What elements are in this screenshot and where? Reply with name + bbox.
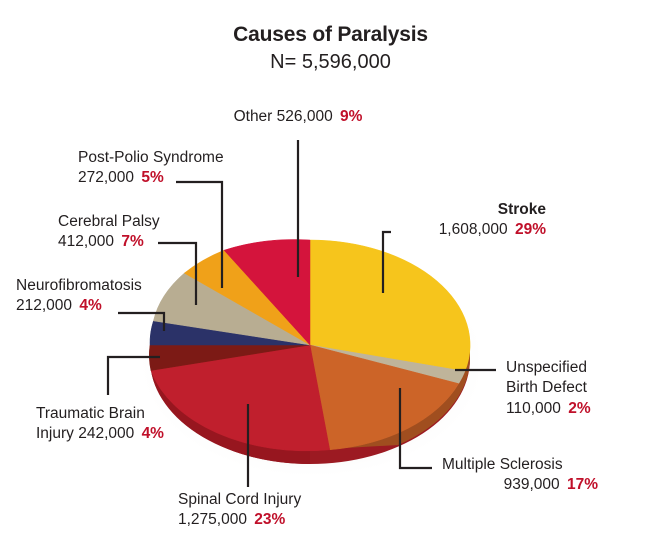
label-spinal-cord-injury: Spinal Cord Injury 1,275,000 23%: [178, 490, 301, 531]
label-neurofibromatosis-value: 212,000: [16, 297, 72, 314]
label-neurofibromatosis: Neurofibromatosis 212,000 4%: [16, 276, 142, 317]
label-traumatic-brain-percent: 4%: [142, 425, 164, 442]
label-multiple-sclerosis: Multiple Sclerosis 939,000 17%: [398, 455, 598, 496]
label-traumatic-brain-line1: Traumatic Brain: [36, 405, 145, 422]
label-stroke: Stroke 1,608,000 29%: [398, 200, 546, 241]
label-multiple-sclerosis-name: Multiple Sclerosis: [442, 456, 563, 473]
label-stroke-percent: 29%: [515, 221, 546, 238]
label-neurofibromatosis-percent: 4%: [79, 297, 101, 314]
label-spinal-cord-name: Spinal Cord Injury: [178, 491, 301, 508]
pie-slices: [149, 239, 470, 450]
label-cerebral-palsy: Cerebral Palsy 412,000 7%: [58, 212, 160, 253]
label-post-polio-percent: 5%: [141, 169, 163, 186]
label-post-polio-syndrome: Post-Polio Syndrome 272,000 5%: [78, 148, 224, 189]
label-traumatic-brain-injury: Traumatic Brain Injury 242,000 4%: [36, 404, 164, 445]
label-multiple-sclerosis-value: 939,000: [504, 476, 560, 493]
label-other-percent: 9%: [340, 108, 362, 125]
label-multiple-sclerosis-percent: 17%: [567, 476, 598, 493]
label-cerebral-palsy-name: Cerebral Palsy: [58, 213, 160, 230]
label-unspecified-birth-defect: Unspecified Birth Defect 110,000 2%: [506, 358, 591, 419]
label-spinal-cord-value: 1,275,000: [178, 511, 247, 528]
label-traumatic-brain-line2: Injury 242,000: [36, 425, 134, 442]
label-spinal-cord-percent: 23%: [254, 511, 285, 528]
label-stroke-name: Stroke: [498, 201, 546, 218]
label-neurofibromatosis-name: Neurofibromatosis: [16, 277, 142, 294]
label-birth-defect-line2: Birth Defect: [506, 379, 587, 396]
label-other-value: 526,000: [277, 108, 333, 125]
label-post-polio-value: 272,000: [78, 169, 134, 186]
label-cerebral-palsy-percent: 7%: [121, 233, 143, 250]
label-post-polio-name: Post-Polio Syndrome: [78, 149, 224, 166]
pie-chart-figure: Causes of Paralysis N= 5,596,000: [0, 0, 661, 559]
label-birth-defect-line1: Unspecified: [506, 359, 587, 376]
label-stroke-value: 1,608,000: [439, 221, 508, 238]
label-cerebral-palsy-value: 412,000: [58, 233, 114, 250]
label-birth-defect-percent: 2%: [568, 400, 590, 417]
label-other: Other 526,000 9%: [198, 107, 398, 127]
label-other-name: Other: [234, 108, 273, 125]
label-birth-defect-value: 110,000: [506, 400, 561, 417]
